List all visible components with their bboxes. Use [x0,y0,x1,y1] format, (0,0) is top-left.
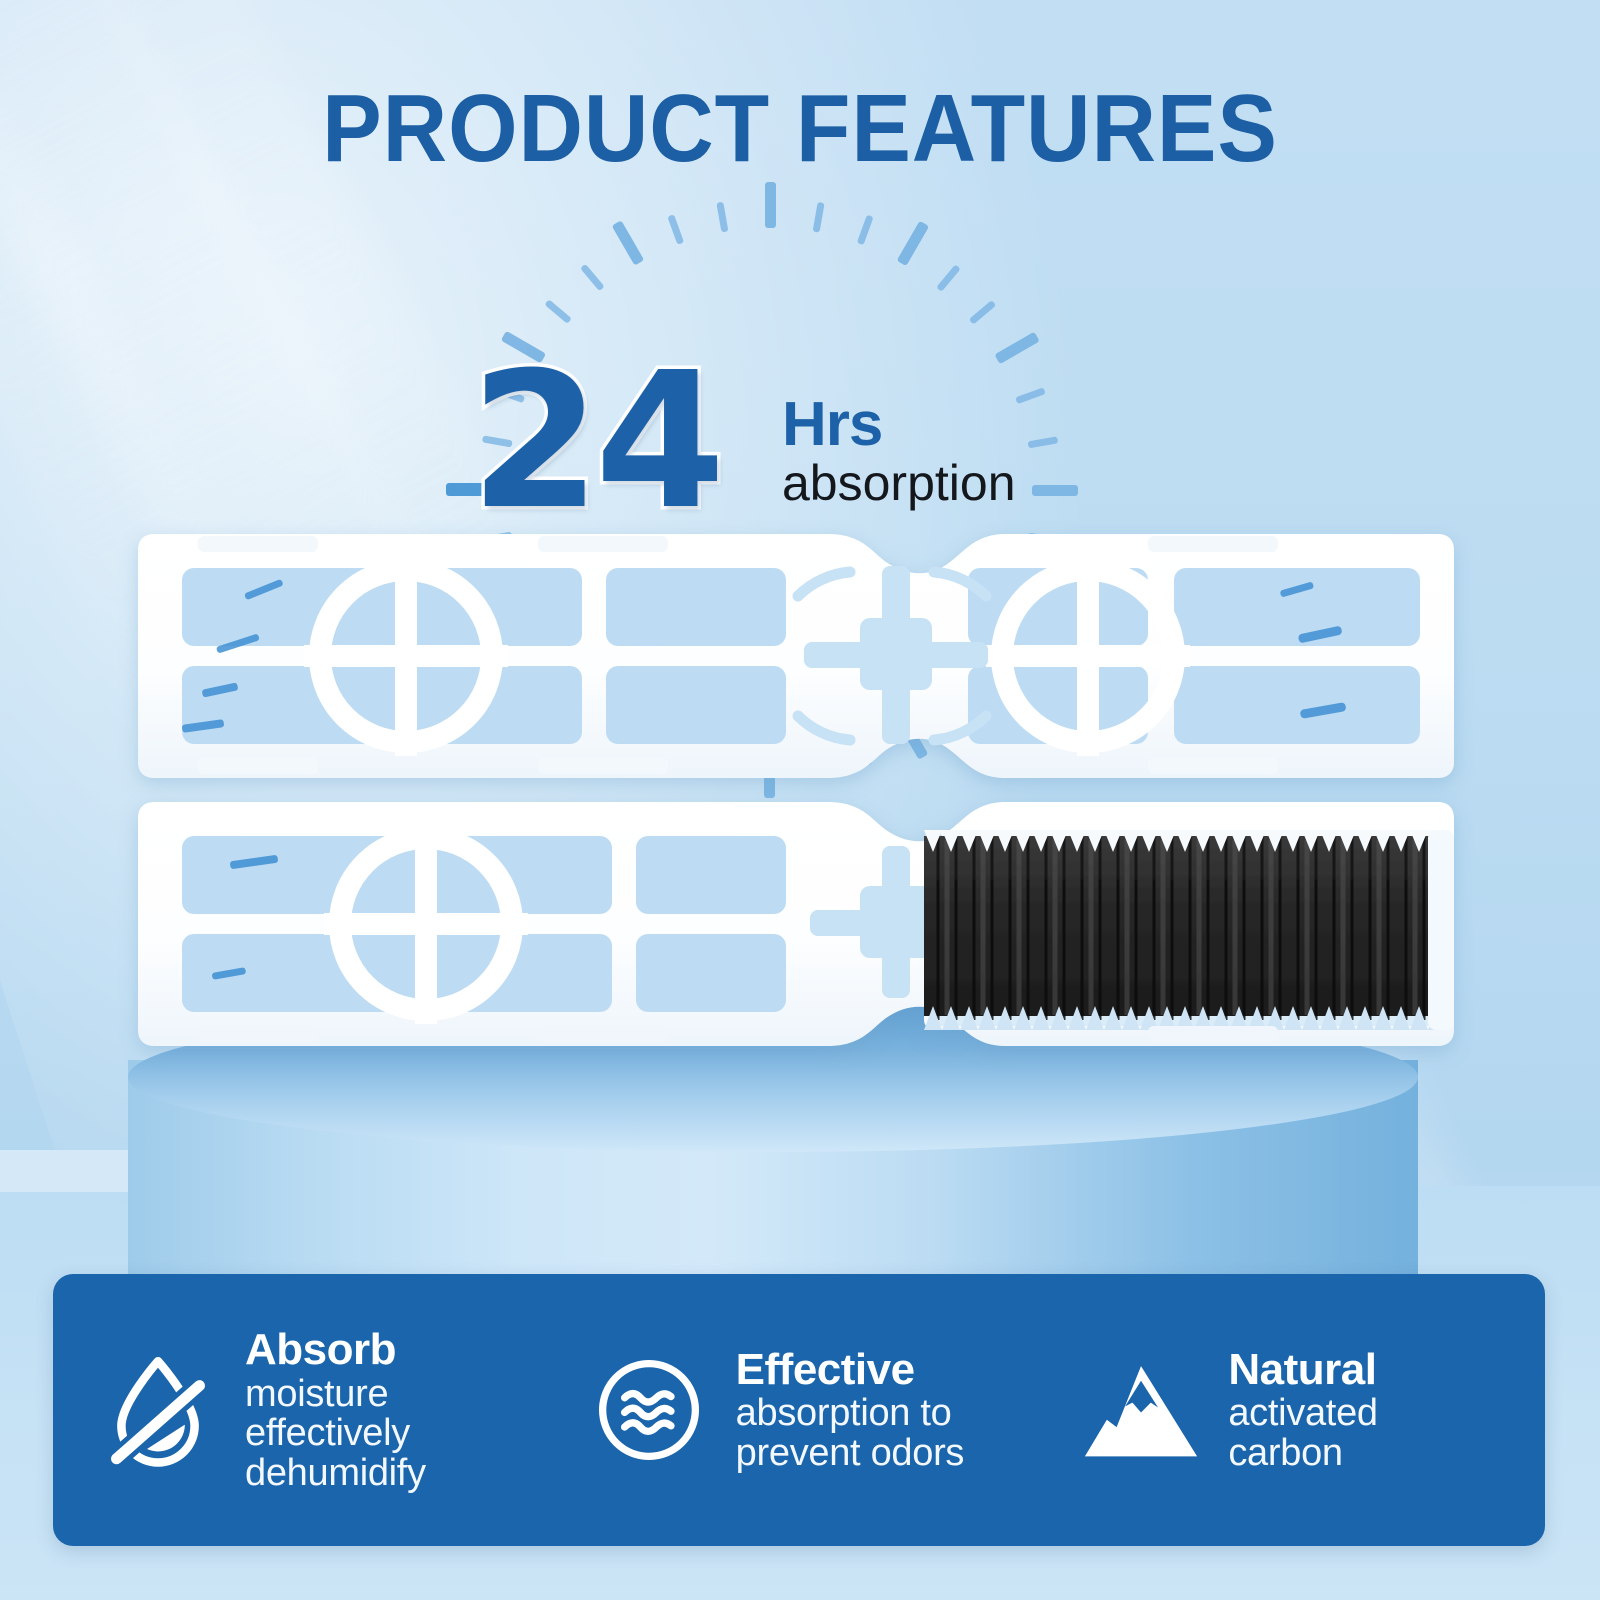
feature-line: effectively [245,1414,426,1454]
product-features-infographic: PRODUCT FEATURES [0,0,1600,1600]
product-lower-frame [138,802,1454,1046]
feature-title: Effective [736,1347,964,1393]
product-upper-frame [138,534,1454,778]
activated-carbon-media [924,822,1446,1034]
water-drop-no-moisture-icon [97,1349,219,1471]
feature-line: carbon [1228,1434,1377,1474]
waves-circle-icon [588,1349,710,1471]
dial-tick [770,182,776,490]
feature-text-absorb: Absorb moisture effectively dehumidify [245,1327,426,1493]
feature-item-natural: Natural activated carbon [1052,1347,1545,1474]
feature-item-absorb: Absorb moisture effectively dehumidify [53,1327,562,1493]
feature-title: Absorb [245,1327,426,1373]
product-image [138,500,1458,1070]
badge-text-group: Hrs absorption [782,394,1016,508]
feature-line: dehumidify [245,1454,426,1494]
page-title: PRODUCT FEATURES [56,74,1544,184]
feature-item-effective: Effective absorption to prevent odors [562,1347,1053,1474]
feature-text-effective: Effective absorption to prevent odors [736,1347,964,1474]
badge-number: 24 [470,332,720,551]
badge-unit: Hrs [782,394,1016,456]
absorption-time-badge: 24 Hrs absorption [470,348,720,536]
feature-line: prevent odors [736,1434,964,1474]
feature-title: Natural [1228,1347,1377,1393]
feature-panel: Absorb moisture effectively dehumidify E… [53,1274,1545,1546]
feature-line: activated [1228,1394,1377,1434]
feature-line: absorption to [736,1394,964,1434]
feature-text-natural: Natural activated carbon [1228,1347,1377,1474]
feature-line: moisture [245,1375,426,1415]
badge-caption: absorption [782,458,1016,508]
mountain-icon [1080,1349,1202,1471]
